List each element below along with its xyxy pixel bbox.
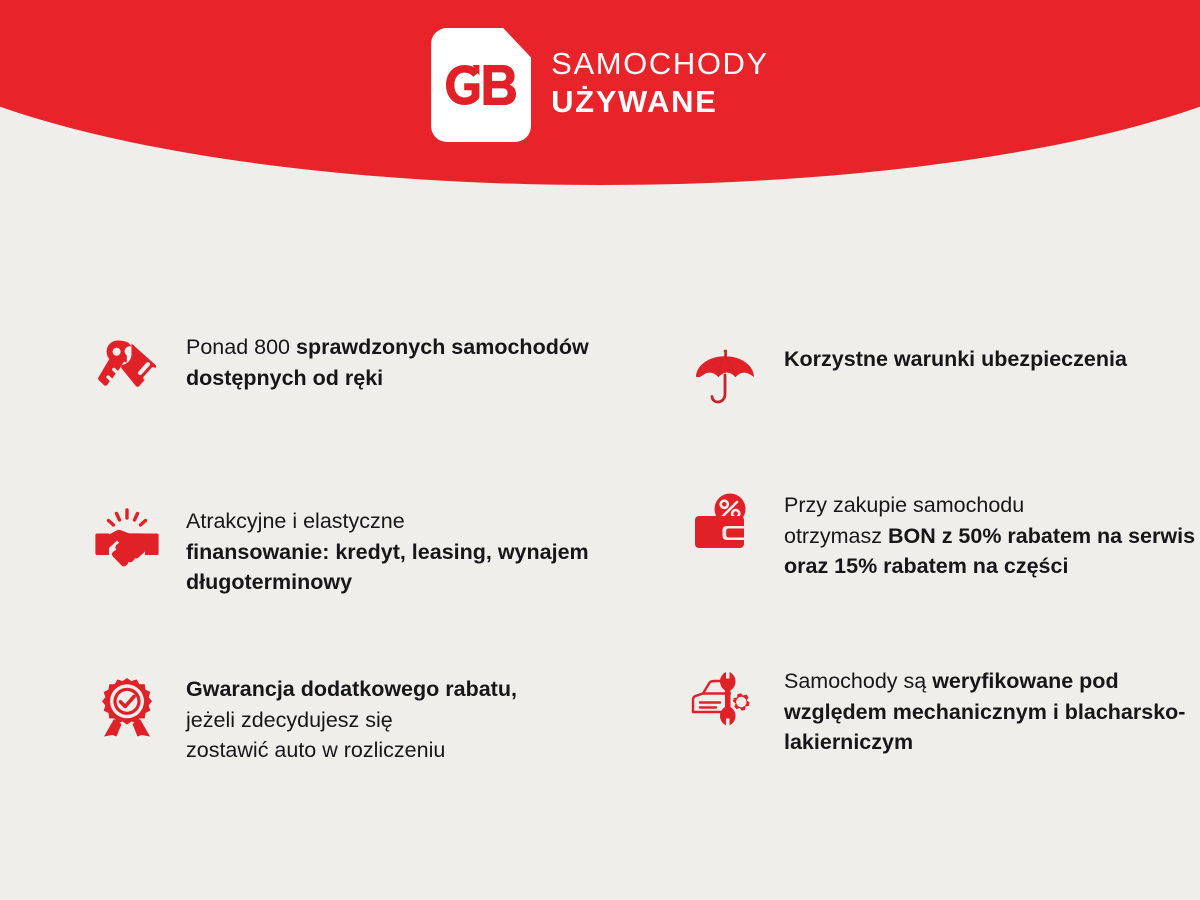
handshake-icon <box>90 504 164 582</box>
umbrella-icon <box>688 342 762 420</box>
feature-text: Gwarancja dodatkowego rabatu,jeżeli zdec… <box>186 672 517 766</box>
car-service-icon <box>688 664 762 742</box>
feature-text: Samochody są weryfikowane pod względem m… <box>784 664 1200 758</box>
promo-poster: SAMOCHODY UŻYWANE <box>0 0 1200 900</box>
gb-logo <box>431 28 531 142</box>
brand-lockup: SAMOCHODY UŻYWANE <box>431 28 769 142</box>
feature-item: Samochody są weryfikowane pod względem m… <box>670 664 1200 812</box>
feature-item: Atrakcyjne i elastycznefinansowanie: kre… <box>90 504 630 644</box>
feature-item: Korzystne warunki ubezpieczenia <box>670 342 1200 482</box>
gb-monogram-icon <box>431 28 531 142</box>
feature-text: Przy zakupie samochoduotrzymasz BON z 50… <box>784 488 1200 582</box>
brand-line-1: SAMOCHODY <box>551 48 769 79</box>
feature-text: Ponad 800 sprawdzonych samochodów dostęp… <box>186 330 616 393</box>
feature-item: Przy zakupie samochoduotrzymasz BON z 50… <box>670 488 1200 644</box>
feature-item: Gwarancja dodatkowego rabatu,jeżeli zdec… <box>90 672 630 812</box>
wallet-percent-icon <box>688 488 762 566</box>
features-grid: Ponad 800 sprawdzonych samochodów dostęp… <box>0 330 1200 812</box>
feature-text: Korzystne warunki ubezpieczenia <box>784 342 1127 375</box>
feature-text: Atrakcyjne i elastycznefinansowanie: kre… <box>186 504 616 598</box>
award-badge-icon <box>90 672 164 750</box>
car-key-icon <box>90 330 164 408</box>
feature-item: Ponad 800 sprawdzonych samochodów dostęp… <box>90 330 630 482</box>
brand-text: SAMOCHODY UŻYWANE <box>551 48 769 123</box>
header: SAMOCHODY UŻYWANE <box>0 0 1200 190</box>
brand-line-2: UŻYWANE <box>551 86 769 117</box>
